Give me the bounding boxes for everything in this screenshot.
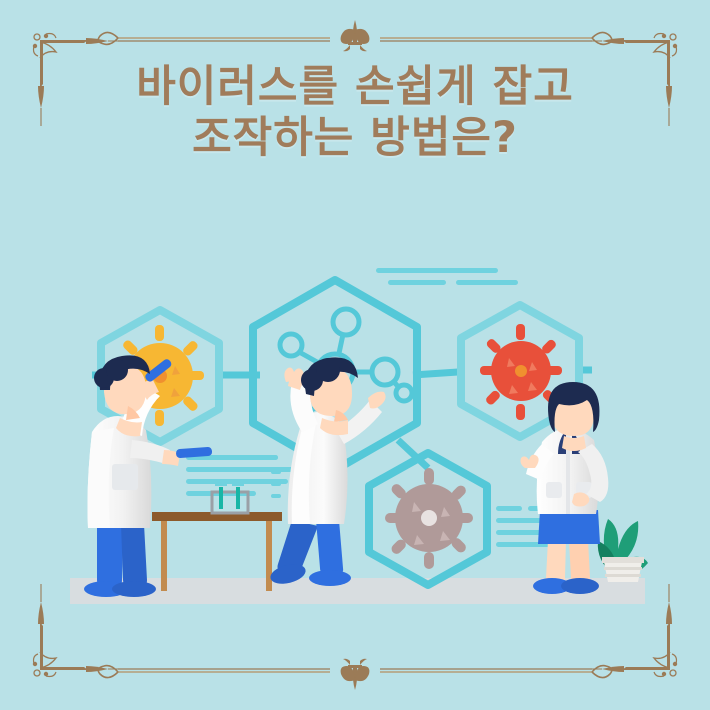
title-line-1: 바이러스를 손쉽게 잡고 — [0, 62, 710, 113]
corner-ornament-bottom-right — [584, 584, 677, 677]
fleur-de-lis-icon-top — [341, 20, 370, 51]
title-line-2: 조작하는 방법은? — [0, 113, 710, 164]
poster-title: 바이러스를 손쉽게 잡고 조작하는 방법은? — [0, 62, 710, 163]
poster-canvas: 바이러스를 손쉽게 잡고 조작하는 방법은? — [0, 0, 710, 710]
fleur-de-lis-icon-bottom — [341, 659, 370, 690]
corner-ornament-bottom-left — [33, 584, 126, 677]
